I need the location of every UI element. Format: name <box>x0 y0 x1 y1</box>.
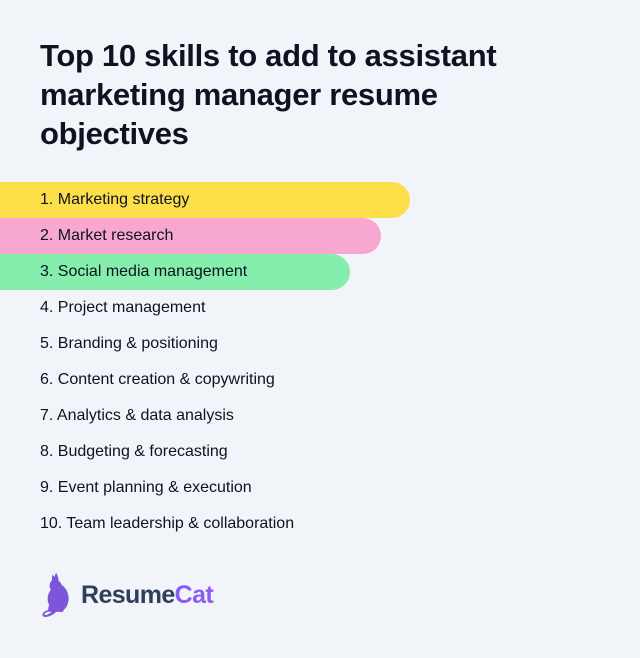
skill-list-item: 8. Budgeting & forecasting <box>0 434 640 470</box>
skill-list-item: 10. Team leadership & collaboration <box>0 506 640 542</box>
skill-label: 1. Marketing strategy <box>0 190 189 210</box>
skill-label: 10. Team leadership & collaboration <box>0 514 294 534</box>
skill-list-item: 5. Branding & positioning <box>0 326 640 362</box>
skills-list: 1. Marketing strategy2. Market research3… <box>0 182 640 542</box>
logo-text-accent: Cat <box>175 583 213 608</box>
logo-text-primary: Resume <box>81 583 175 608</box>
skill-label: 5. Branding & positioning <box>0 334 218 354</box>
resumecat-logo: Resume Cat <box>41 572 213 618</box>
skill-list-item: 3. Social media management <box>0 254 640 290</box>
page-title: Top 10 skills to add to assistant market… <box>40 36 580 153</box>
skill-list-item: 7. Analytics & data analysis <box>0 398 640 434</box>
skill-list-item: 2. Market research <box>0 218 640 254</box>
logo-wordmark: Resume Cat <box>81 583 213 608</box>
skill-label: 2. Market research <box>0 226 173 246</box>
skill-label: 7. Analytics & data analysis <box>0 406 234 426</box>
skill-label: 8. Budgeting & forecasting <box>0 442 228 462</box>
skill-list-item: 6. Content creation & copywriting <box>0 362 640 398</box>
skill-label: 4. Project management <box>0 298 205 318</box>
skill-list-item: 9. Event planning & execution <box>0 470 640 506</box>
skill-label: 3. Social media management <box>0 262 247 282</box>
skill-label: 6. Content creation & copywriting <box>0 370 275 390</box>
skill-list-item: 4. Project management <box>0 290 640 326</box>
skill-list-item: 1. Marketing strategy <box>0 182 640 218</box>
infographic-canvas: Top 10 skills to add to assistant market… <box>0 0 640 658</box>
skill-label: 9. Event planning & execution <box>0 478 252 498</box>
cat-icon <box>41 573 75 617</box>
